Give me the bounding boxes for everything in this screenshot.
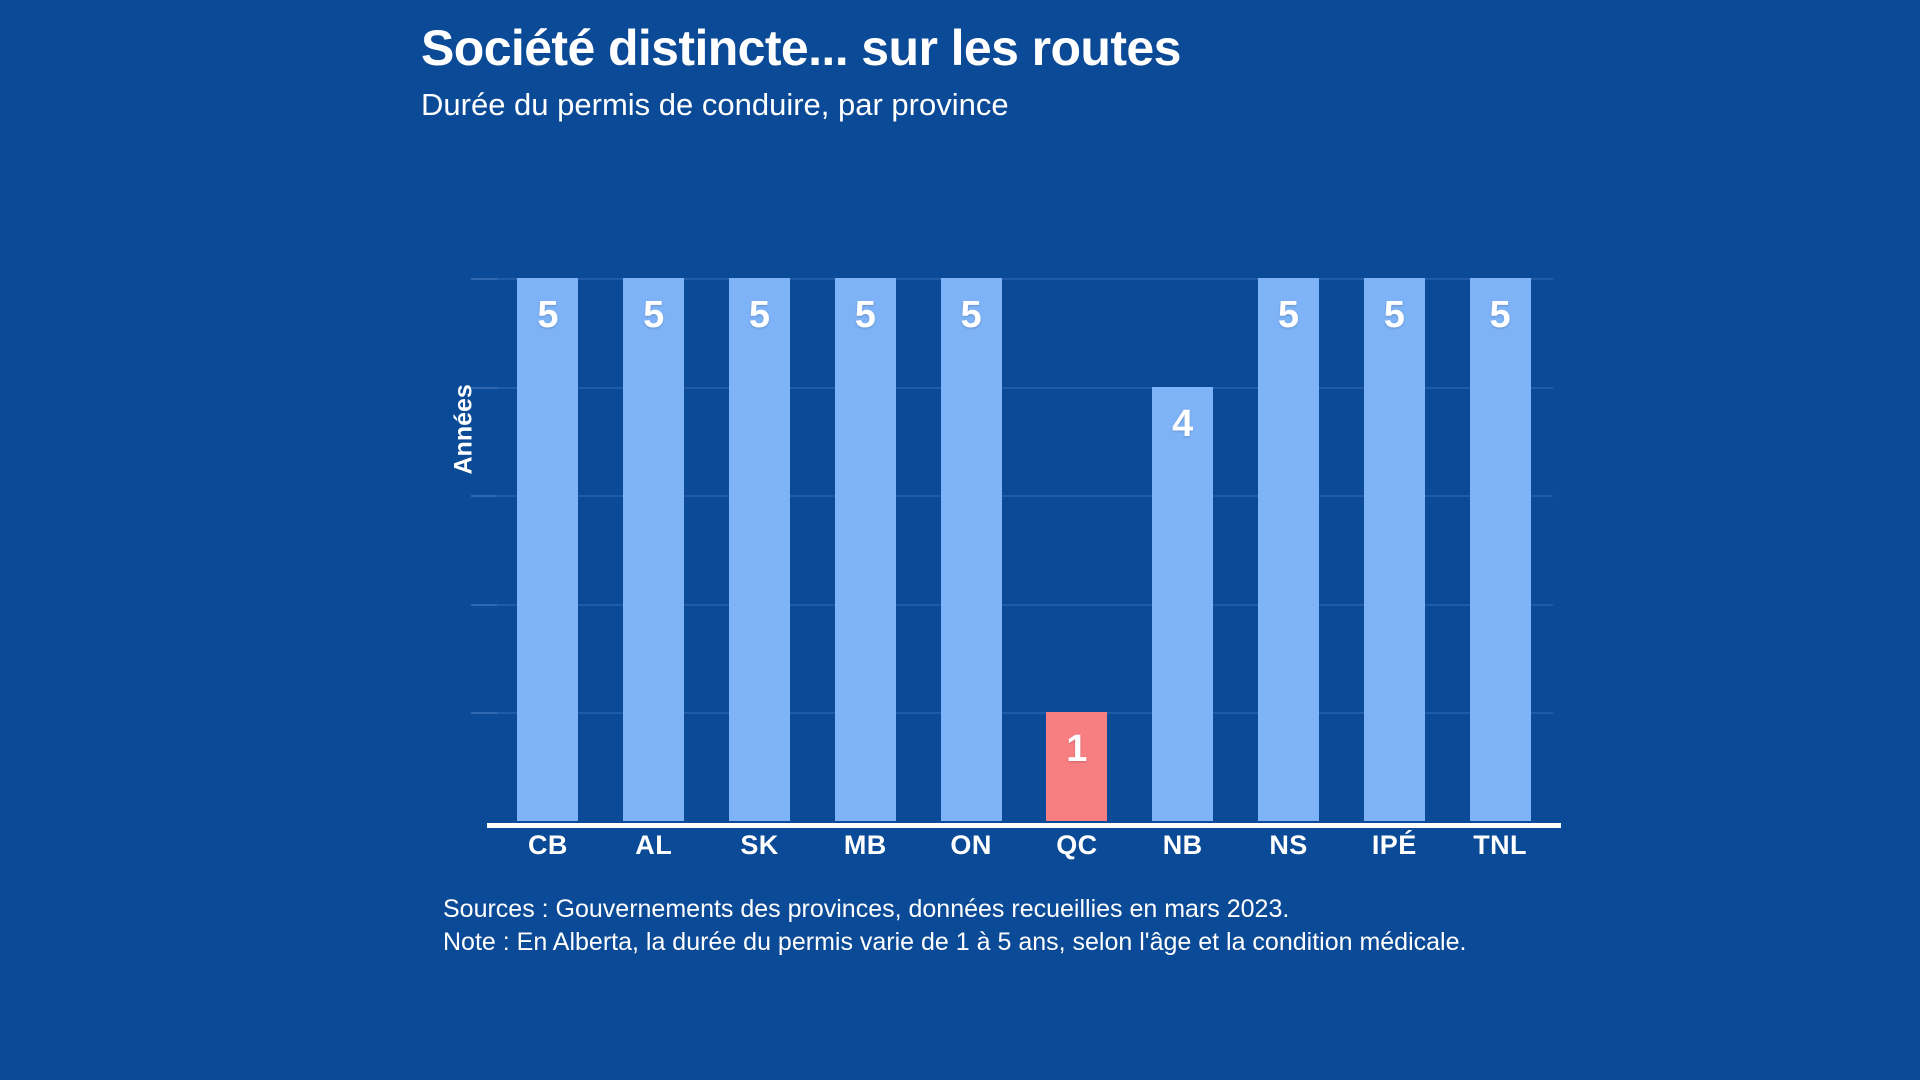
x-tick-label-mb: MB [812,830,918,870]
bar-ns[interactable]: 5 [1258,278,1319,821]
plot-area: 5555514555 [495,224,1553,821]
y-tick-5 [471,278,497,280]
bar-ipé[interactable]: 5 [1364,278,1425,821]
bar-value-label: 5 [749,296,770,821]
y-axis-title: Années [450,435,479,475]
bar-sk[interactable]: 5 [729,278,790,821]
page-title: Société distincte... sur les routes [421,22,1621,75]
y-tick-1 [471,712,497,714]
bar-slot: 5 [1236,224,1342,821]
x-tick-label-nb: NB [1130,830,1236,870]
bar-value-label: 4 [1172,405,1193,821]
x-axis-labels: CBALSKMBONQCNBNSIPÉTNL [495,830,1553,870]
bar-cb[interactable]: 5 [517,278,578,821]
bar-slot: 1 [1024,224,1130,821]
chart-canvas: Société distincte... sur les routes Duré… [0,0,1920,1080]
bar-slot: 5 [812,224,918,821]
x-tick-label-on: ON [918,830,1024,870]
bar-qc[interactable]: 1 [1046,712,1107,821]
bar-al[interactable]: 5 [623,278,684,821]
bar-slot: 5 [495,224,601,821]
source-note: Sources : Gouvernements des provinces, d… [443,893,1643,926]
bar-slot: 4 [1130,224,1236,821]
bar-value-label: 1 [1066,730,1087,821]
bar-value-label: 5 [1489,296,1510,821]
x-tick-label-qc: QC [1024,830,1130,870]
bar-series: 5555514555 [495,224,1553,821]
bar-slot: 5 [707,224,813,821]
explanatory-note: Note : En Alberta, la durée du permis va… [443,926,1643,959]
y-tick-2 [471,604,497,606]
bar-value-label: 5 [1278,296,1299,821]
y-tick-4 [471,387,497,389]
bar-on[interactable]: 5 [941,278,1002,821]
x-tick-label-sk: SK [707,830,813,870]
x-tick-label-al: AL [601,830,707,870]
bar-slot: 5 [1447,224,1553,821]
bar-value-label: 5 [1384,296,1405,821]
x-axis-line [487,823,1561,828]
x-tick-label-tnl: TNL [1447,830,1553,870]
chart-subtitle: Durée du permis de conduire, par provinc… [421,88,1621,122]
bar-mb[interactable]: 5 [835,278,896,821]
bar-value-label: 5 [537,296,558,821]
bar-nb[interactable]: 4 [1152,387,1213,821]
bar-slot: 5 [601,224,707,821]
x-tick-label-ipé: IPÉ [1341,830,1447,870]
bar-slot: 5 [1341,224,1447,821]
chart-footnotes: Sources : Gouvernements des provinces, d… [443,893,1643,959]
bar-value-label: 5 [961,296,982,821]
x-tick-label-cb: CB [495,830,601,870]
bar-slot: 5 [918,224,1024,821]
bar-value-label: 5 [855,296,876,821]
x-tick-label-ns: NS [1236,830,1342,870]
bar-value-label: 5 [643,296,664,821]
y-tick-3 [471,495,497,497]
bar-tnl[interactable]: 5 [1470,278,1531,821]
chart-header: Société distincte... sur les routes Duré… [421,22,1621,122]
